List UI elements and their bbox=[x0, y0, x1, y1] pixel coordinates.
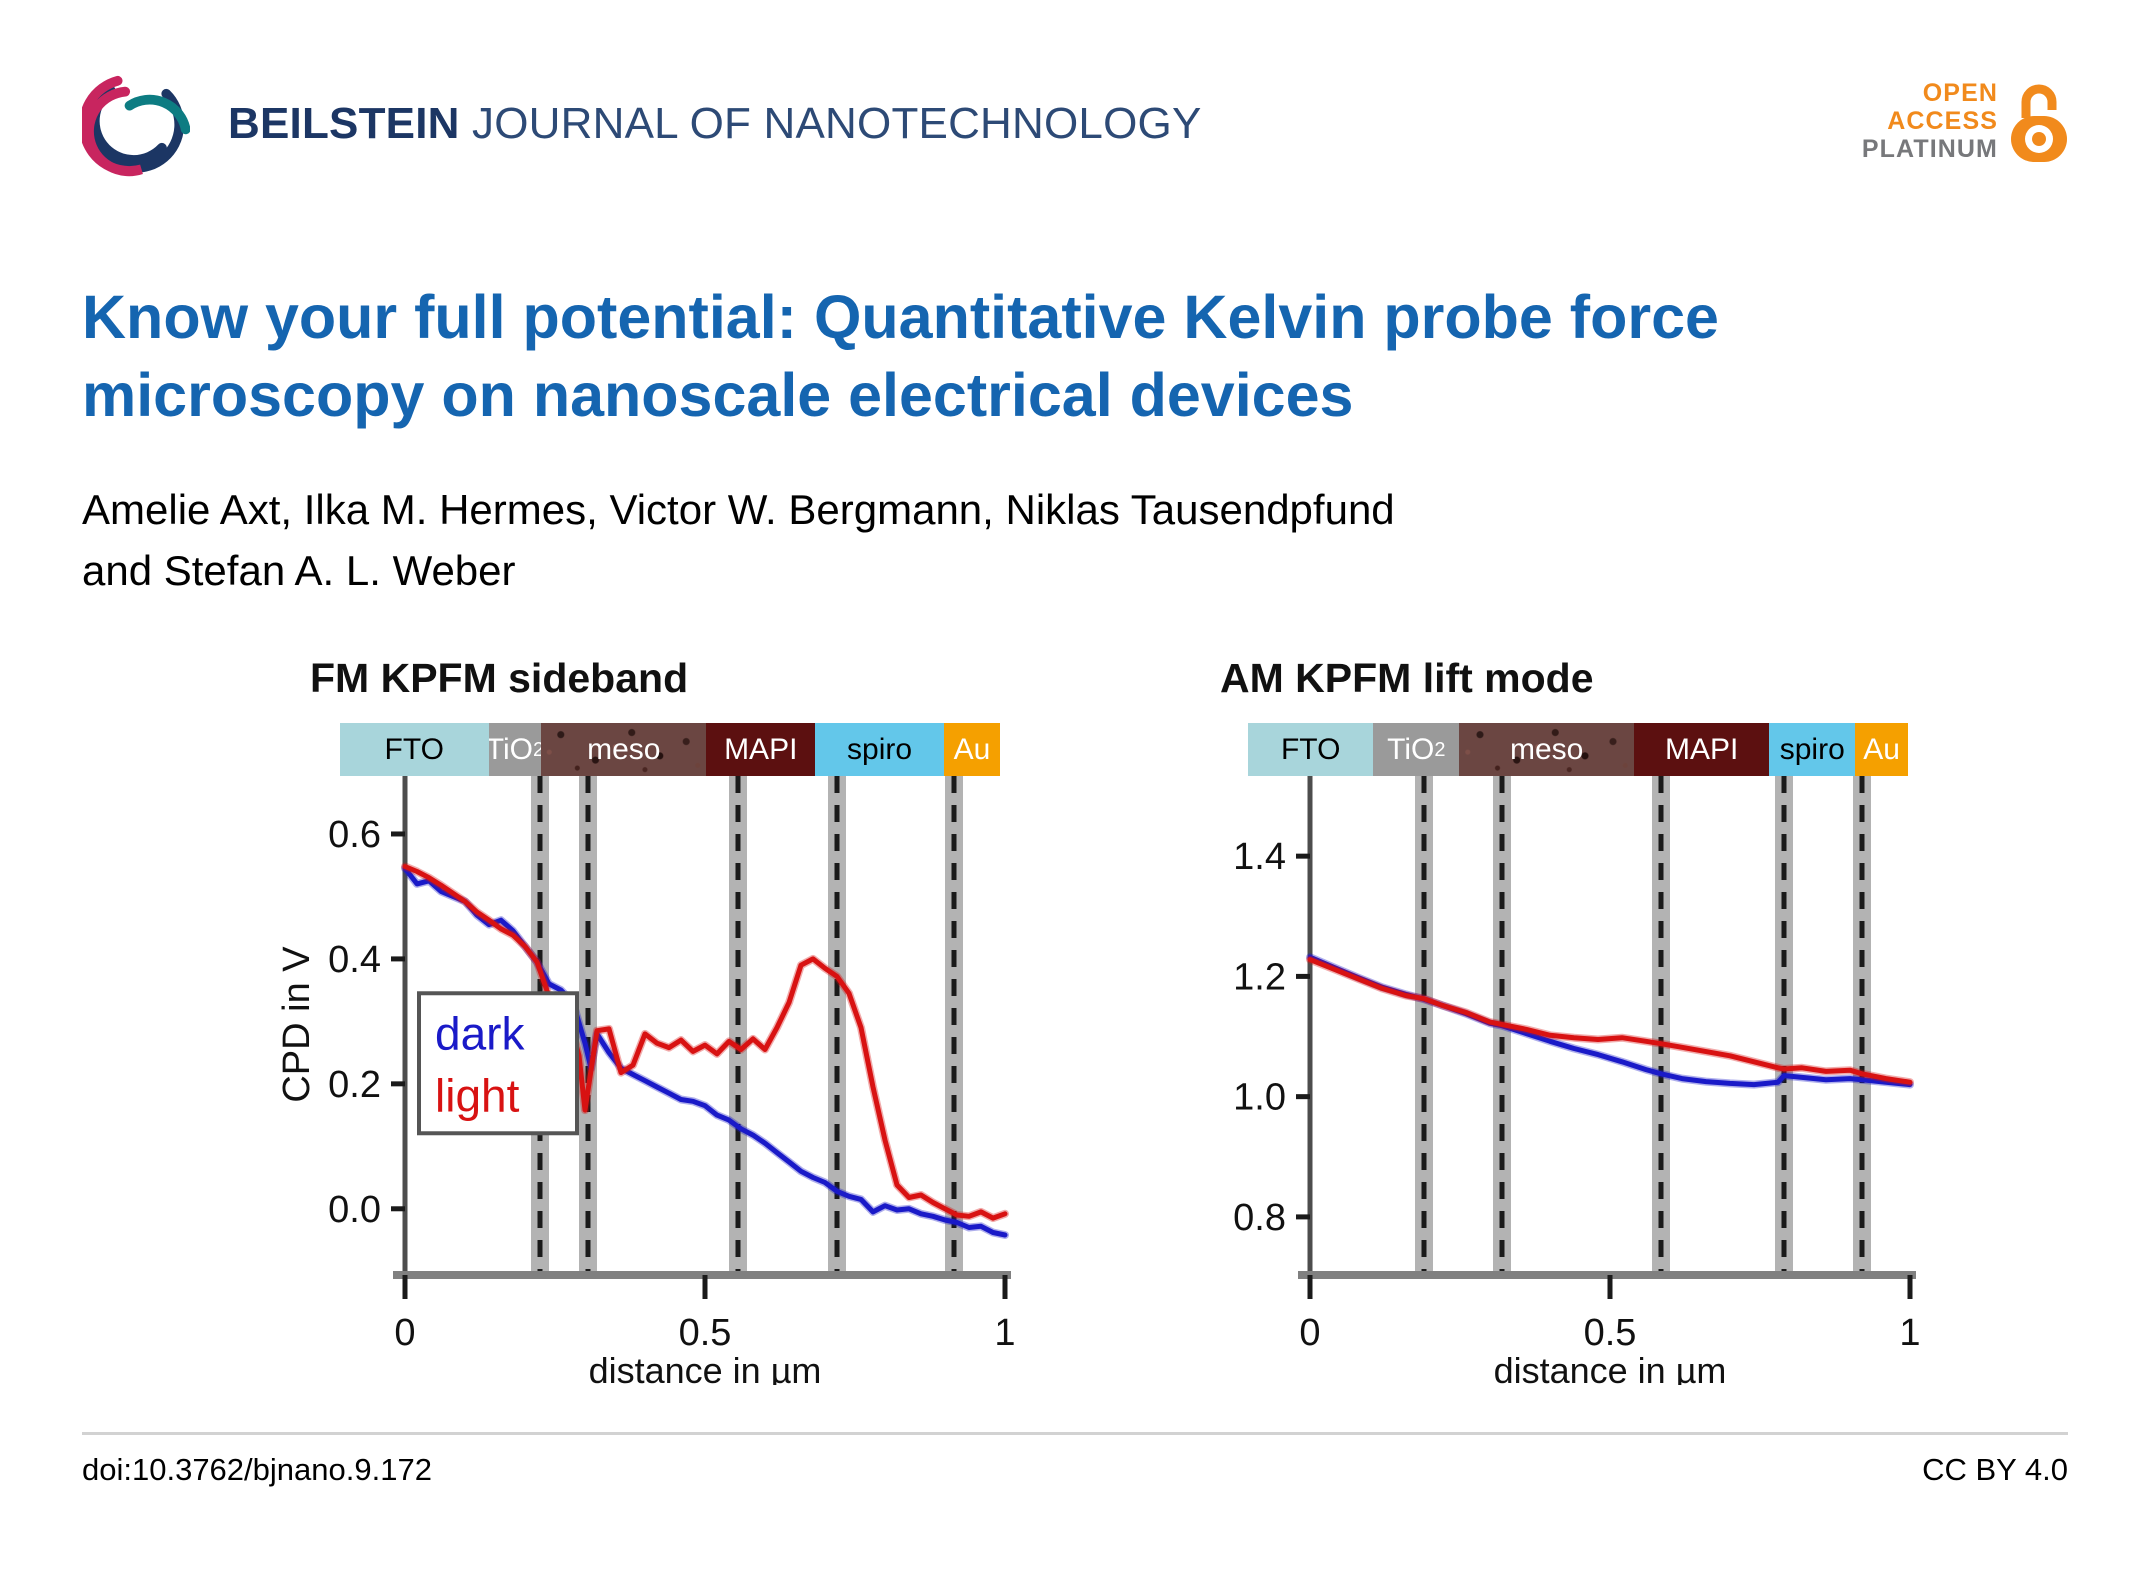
layer-seg-tio2: TiO2 bbox=[489, 723, 542, 776]
svg-text:light: light bbox=[435, 1069, 520, 1121]
svg-text:distance in µm: distance in µm bbox=[589, 1350, 822, 1385]
svg-text:0.8: 0.8 bbox=[1233, 1197, 1286, 1239]
svg-text:0.4: 0.4 bbox=[328, 939, 381, 981]
layer-seg-fto: FTO bbox=[1248, 723, 1373, 776]
figure-graphical-abstract: FM KPFM sideband FTO TiO2 meso MAPI spir… bbox=[190, 655, 1980, 1385]
layer-seg-au: Au bbox=[1855, 723, 1908, 776]
chart-title-right: AM KPFM lift mode bbox=[1220, 655, 1594, 702]
journal-title: BEILSTEIN JOURNAL OF NANOTECHNOLOGY bbox=[228, 99, 1202, 149]
svg-text:1: 1 bbox=[1899, 1312, 1920, 1354]
layer-seg-spiro: spiro bbox=[1769, 723, 1855, 776]
license-text: CC BY 4.0 bbox=[1922, 1452, 2068, 1488]
doi-text: doi:10.3762/bjnano.9.172 bbox=[82, 1452, 432, 1488]
svg-text:1.0: 1.0 bbox=[1233, 1077, 1286, 1119]
plot-area-right: 0.81.01.21.400.51distance in µm bbox=[1120, 776, 1980, 1385]
svg-text:0.6: 0.6 bbox=[328, 814, 381, 856]
layer-seg-mapi: MAPI bbox=[1634, 723, 1769, 776]
svg-text:dark: dark bbox=[435, 1007, 525, 1059]
svg-text:0.2: 0.2 bbox=[328, 1064, 381, 1106]
chart-panel-am-kpfm: AM KPFM lift mode FTO TiO2 meso MAPI spi… bbox=[1120, 655, 1980, 1385]
svg-text:CPD in V: CPD in V bbox=[276, 946, 318, 1103]
open-access-labels: OPEN ACCESS PLATINUM bbox=[1862, 79, 1998, 163]
open-access-badge: OPEN ACCESS PLATINUM bbox=[1862, 78, 2070, 164]
svg-text:0.0: 0.0 bbox=[328, 1189, 381, 1231]
layer-seg-fto: FTO bbox=[340, 723, 489, 776]
author-list: Amelie Axt, Ilka M. Hermes, Victor W. Be… bbox=[82, 480, 1962, 602]
svg-text:1.2: 1.2 bbox=[1233, 956, 1286, 998]
journal-title-bold: BEILSTEIN bbox=[228, 99, 460, 148]
poster-page: BEILSTEIN JOURNAL OF NANOTECHNOLOGY OPEN… bbox=[0, 0, 2150, 1573]
layer-stack-bar-right: FTO TiO2 meso MAPI spiro Au bbox=[1248, 723, 1908, 776]
layer-seg-au: Au bbox=[944, 723, 1000, 776]
page-header: BEILSTEIN JOURNAL OF NANOTECHNOLOGY OPEN… bbox=[0, 0, 2150, 200]
svg-text:distance in µm: distance in µm bbox=[1494, 1350, 1727, 1385]
journal-title-rest: JOURNAL OF NANOTECHNOLOGY bbox=[460, 99, 1202, 148]
svg-text:0.5: 0.5 bbox=[679, 1312, 732, 1354]
layer-seg-meso: meso bbox=[1459, 723, 1634, 776]
layer-seg-meso: meso bbox=[541, 723, 706, 776]
footer-divider bbox=[82, 1432, 2068, 1435]
beilstein-spiral-logo-icon bbox=[82, 70, 190, 178]
journal-branding: BEILSTEIN JOURNAL OF NANOTECHNOLOGY bbox=[82, 70, 1202, 178]
svg-text:0.5: 0.5 bbox=[1584, 1312, 1637, 1354]
plot-area-left: 0.00.20.40.600.51distance in µmCPD in Vd… bbox=[200, 776, 1070, 1385]
open-access-line1: OPEN bbox=[1862, 79, 1998, 107]
layer-seg-mapi: MAPI bbox=[706, 723, 815, 776]
svg-text:0: 0 bbox=[394, 1312, 415, 1354]
page-title: Know your full potential: Quantitative K… bbox=[82, 278, 1962, 434]
chart-panel-fm-kpfm: FM KPFM sideband FTO TiO2 meso MAPI spir… bbox=[200, 655, 1070, 1385]
svg-text:1.4: 1.4 bbox=[1233, 836, 1286, 878]
open-access-line3: PLATINUM bbox=[1862, 135, 1998, 163]
author-line-2: and Stefan A. L. Weber bbox=[82, 541, 1962, 602]
svg-text:1: 1 bbox=[994, 1312, 1015, 1354]
author-line-1: Amelie Axt, Ilka M. Hermes, Victor W. Be… bbox=[82, 480, 1962, 541]
chart-title-left: FM KPFM sideband bbox=[310, 655, 688, 702]
layer-seg-tio2: TiO2 bbox=[1373, 723, 1459, 776]
open-access-line2: ACCESS bbox=[1862, 107, 1998, 135]
open-lock-icon bbox=[2008, 78, 2070, 164]
layer-seg-spiro: spiro bbox=[815, 723, 944, 776]
svg-text:0: 0 bbox=[1299, 1312, 1320, 1354]
layer-stack-bar-left: FTO TiO2 meso MAPI spiro Au bbox=[340, 723, 1000, 776]
